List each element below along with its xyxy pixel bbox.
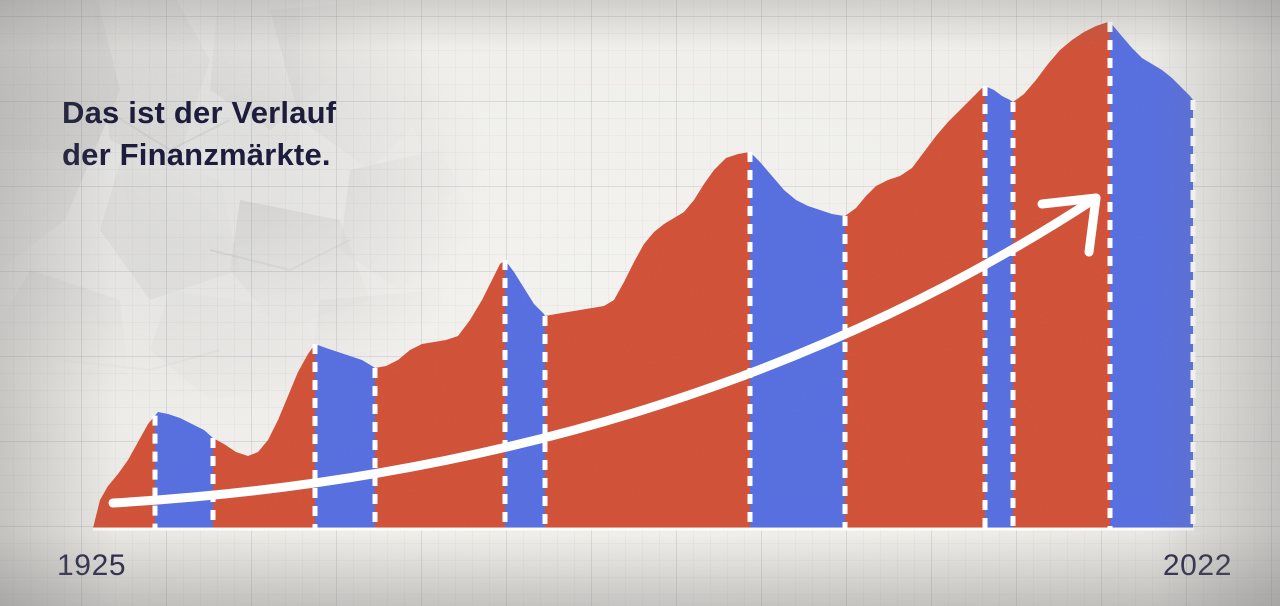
- headline-line-2: der Finanzmärkte.: [62, 137, 331, 172]
- page-title: Das ist der Verlaufder Finanzmärkte.: [62, 92, 336, 176]
- market-history-chart: [0, 0, 1280, 606]
- chart-area-segments: [0, 0, 1280, 606]
- headline-line-1: Das ist der Verlauf: [62, 95, 336, 130]
- screenshot-stage: Das ist der Verlaufder Finanzmärkte. 192…: [0, 0, 1280, 606]
- axis-label-end-year: 2022: [1163, 549, 1232, 583]
- axis-label-start-year: 1925: [57, 549, 126, 583]
